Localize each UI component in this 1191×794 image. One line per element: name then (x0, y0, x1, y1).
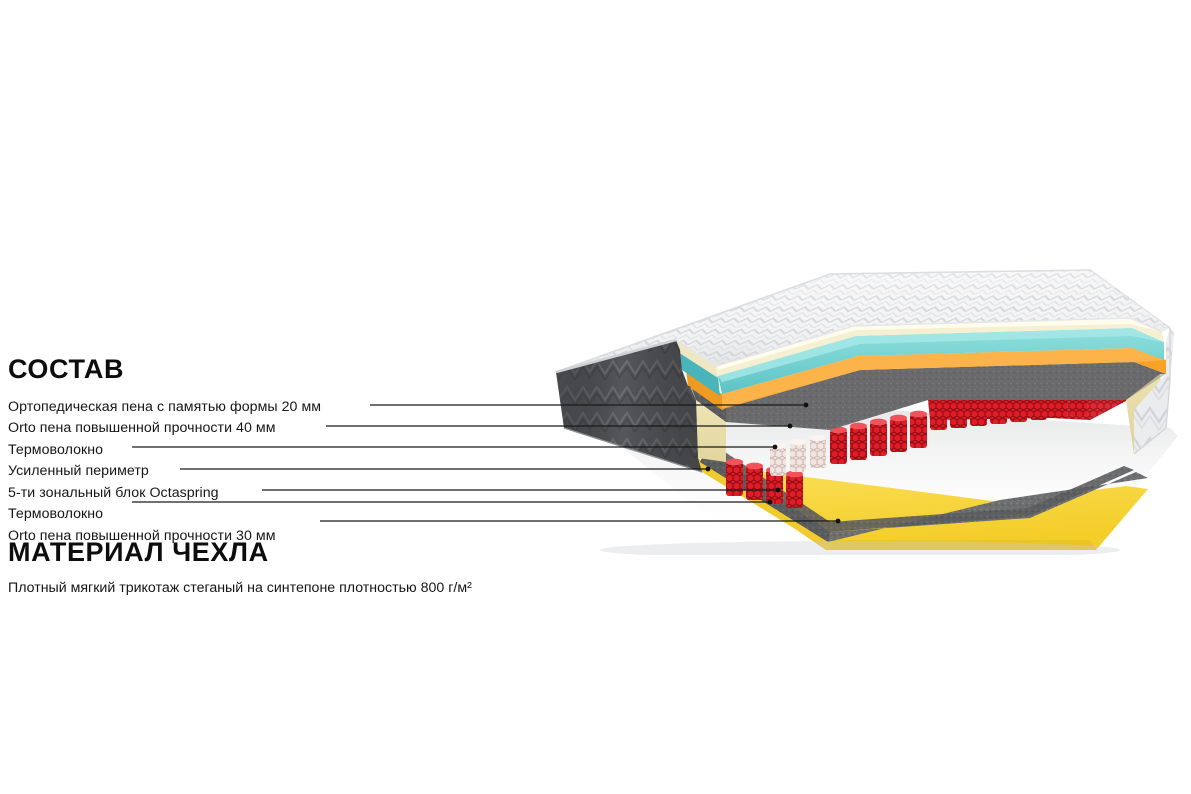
composition-item-label: Термоволокно (8, 506, 103, 522)
composition-item-octaspring: 5-ти зональный блок Octaspring (8, 482, 568, 504)
composition-list: Ортопедическая пена с памятью формы 20 м… (8, 396, 568, 547)
cover-material-heading: МАТЕРИАЛ ЧЕХЛА (8, 537, 269, 568)
composition-item-reinforced-perimeter: Усиленный периметр (8, 461, 568, 483)
composition-item-label: 5-ти зональный блок Octaspring (8, 485, 219, 501)
composition-item-memory-foam: Ортопедическая пена с памятью формы 20 м… (8, 396, 568, 418)
composition-item-label: Ортопедическая пена с памятью формы 20 м… (8, 399, 321, 415)
composition-item-label: Термоволокно (8, 442, 103, 458)
composition-item-orto-foam-top: Orto пена повышенной прочности 40 мм (8, 418, 568, 440)
cover-material-description: Плотный мягкий трикотаж стеганый на синт… (8, 580, 472, 596)
composition-item-thermofibre-bottom: Термоволокно (8, 504, 568, 526)
composition-item-label: Усиленный периметр (8, 463, 149, 479)
composition-item-label: Orto пена повышенной прочности 40 мм (8, 420, 276, 436)
composition-heading: СОСТАВ (8, 354, 124, 385)
mattress-cutaway-illustration (530, 250, 1191, 555)
composition-item-thermofibre-top: Термоволокно (8, 439, 568, 461)
page-root: СОСТАВ Ортопедическая пена с памятью фор… (0, 0, 1191, 794)
